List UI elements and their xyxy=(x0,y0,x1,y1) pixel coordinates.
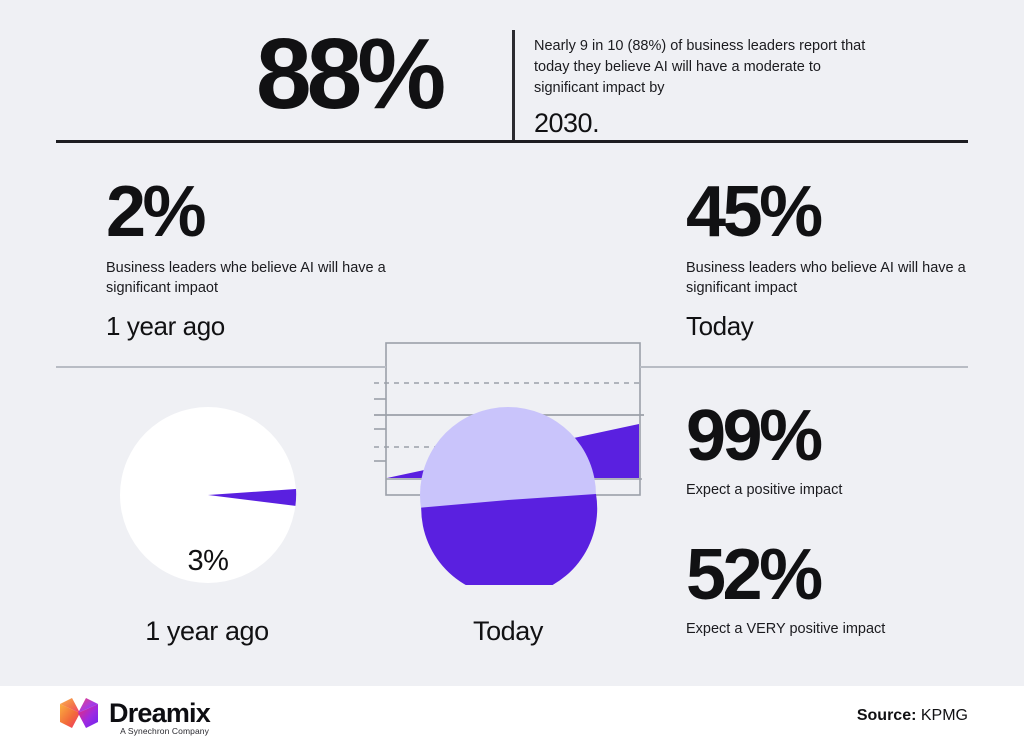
pie-chart-one-year-ago: 3% xyxy=(118,405,298,590)
header-section: 88% Nearly 9 in 10 (88%) of business lea… xyxy=(0,0,1024,142)
big-stat-percentage: 99% xyxy=(686,400,986,472)
stat-description: Business leaders whe believe AI will hav… xyxy=(106,259,406,298)
pie-label-today: Today xyxy=(378,616,638,647)
big-stat-description: Expect a VERY positive impact xyxy=(686,620,986,640)
stat-block-one-year-ago: 2% Business leaders whe believe AI will … xyxy=(106,176,406,342)
stat-timeframe: Today xyxy=(686,311,986,342)
stat-description: Business leaders who believe AI will hav… xyxy=(686,259,986,298)
middle-comparison-section: 2% Business leaders whe believe AI will … xyxy=(0,143,1024,373)
big-stat-description: Expect a positive impact xyxy=(686,481,986,501)
footer-section: Dreamix A Synechron Company Source: KPMG xyxy=(0,686,1024,748)
pie-chart-today xyxy=(418,405,598,590)
source-value: KPMG xyxy=(921,707,968,724)
dreamix-tagline: A Synechron Company xyxy=(120,726,209,736)
source-label: Source: xyxy=(857,707,917,724)
header-vertical-divider xyxy=(512,30,515,142)
dreamix-logo[interactable]: Dreamix A Synechron Company xyxy=(58,697,210,729)
pie-charts-section: 3% 1 year ago Today 99% Expect a positiv… xyxy=(0,373,1024,673)
big-stat-very-positive-impact: 52% Expect a VERY positive impact xyxy=(686,539,986,640)
stat-block-today: 45% Business leaders who believe AI will… xyxy=(686,176,986,342)
pie-today-svg xyxy=(418,405,598,585)
source-attribution: Source: KPMG xyxy=(857,707,968,725)
big-stat-percentage: 52% xyxy=(686,539,986,611)
dreamix-mark-icon xyxy=(58,697,100,729)
header-year-text: 2030. xyxy=(534,108,874,139)
hero-percentage: 88% xyxy=(256,24,441,124)
dreamix-logo-text: Dreamix A Synechron Company xyxy=(109,699,210,727)
divider-middle-right xyxy=(640,366,968,368)
header-copy-block: Nearly 9 in 10 (88%) of business leaders… xyxy=(534,36,874,139)
stat-percentage: 2% xyxy=(106,176,406,248)
header-lead-text: Nearly 9 in 10 (88%) of business leaders… xyxy=(534,36,874,99)
pie-value-slice xyxy=(421,494,597,585)
right-stats-column: 99% Expect a positive impact 52% Expect … xyxy=(686,400,986,639)
dreamix-wordmark: Dreamix xyxy=(109,700,210,727)
stat-timeframe: 1 year ago xyxy=(106,311,406,342)
divider-middle-left xyxy=(56,366,386,368)
pie-label-one-year-ago: 1 year ago xyxy=(77,616,337,647)
pie-inner-percentage: 3% xyxy=(118,545,298,578)
big-stat-positive-impact: 99% Expect a positive impact xyxy=(686,400,986,501)
stat-percentage: 45% xyxy=(686,176,986,248)
